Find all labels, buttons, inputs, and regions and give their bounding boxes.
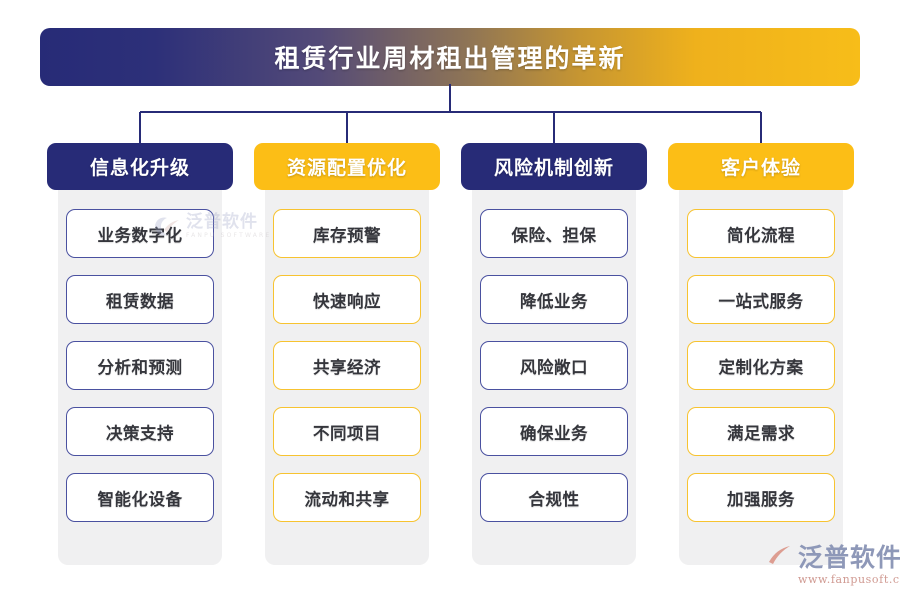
column-header-label-4: 客户体验 — [721, 153, 801, 180]
item-label: 一站式服务 — [719, 288, 804, 312]
item-label: 共享经济 — [313, 354, 381, 378]
list-item[interactable]: 保险、担保 — [480, 209, 628, 258]
list-item[interactable]: 风险敞口 — [480, 341, 628, 390]
column-header-2[interactable]: 资源配置优化 — [254, 143, 440, 190]
item-label: 加强服务 — [727, 486, 795, 510]
brand-logo: 泛普软件 www.fanpusoft.com — [758, 543, 900, 585]
list-item[interactable]: 定制化方案 — [687, 341, 835, 390]
column-header-label-1: 信息化升级 — [90, 153, 190, 180]
item-label: 定制化方案 — [719, 354, 804, 378]
column-item-list-2: 库存预警 快速响应 共享经济 不同项目 流动和共享 — [273, 209, 421, 522]
column-header-4[interactable]: 客户体验 — [668, 143, 854, 190]
item-label: 保险、担保 — [512, 222, 597, 246]
diagram-title-banner: 租赁行业周材租出管理的革新 — [40, 28, 860, 86]
list-item[interactable]: 租赁数据 — [66, 275, 214, 324]
item-label: 合规性 — [529, 486, 580, 510]
item-label: 确保业务 — [520, 420, 588, 444]
list-item[interactable]: 不同项目 — [273, 407, 421, 456]
item-label: 风险敞口 — [520, 354, 588, 378]
list-item[interactable]: 满足需求 — [687, 407, 835, 456]
list-item[interactable]: 合规性 — [480, 473, 628, 522]
item-label: 降低业务 — [520, 288, 588, 312]
list-item[interactable]: 简化流程 — [687, 209, 835, 258]
list-item[interactable]: 流动和共享 — [273, 473, 421, 522]
column-header-label-3: 风险机制创新 — [494, 153, 614, 180]
column-header-3[interactable]: 风险机制创新 — [461, 143, 647, 190]
diagram-canvas: 租赁行业周材租出管理的革新 信息化升级 业务数字化 租赁数据 分析和预测 决策支… — [0, 0, 900, 600]
list-item[interactable]: 分析和预测 — [66, 341, 214, 390]
category-column-2: 资源配置优化 库存预警 快速响应 共享经济 不同项目 流动和共享 — [254, 143, 440, 190]
column-item-list-1: 业务数字化 租赁数据 分析和预测 决策支持 智能化设备 — [66, 209, 214, 522]
connector-tree — [0, 84, 900, 146]
list-item[interactable]: 共享经济 — [273, 341, 421, 390]
page-title: 租赁行业周材租出管理的革新 — [274, 39, 625, 75]
item-label: 业务数字化 — [98, 222, 183, 246]
item-label: 简化流程 — [727, 222, 795, 246]
item-label: 快速响应 — [313, 288, 381, 312]
item-label: 智能化设备 — [98, 486, 183, 510]
item-label: 分析和预测 — [98, 354, 183, 378]
item-label: 决策支持 — [106, 420, 174, 444]
item-label: 满足需求 — [727, 420, 795, 444]
brand-url: www.fanpusoft.com — [798, 574, 900, 585]
list-item[interactable]: 快速响应 — [273, 275, 421, 324]
category-column-3: 风险机制创新 保险、担保 降低业务 风险敞口 确保业务 合规性 — [461, 143, 647, 190]
column-item-list-4: 简化流程 一站式服务 定制化方案 满足需求 加强服务 — [687, 209, 835, 522]
list-item[interactable]: 库存预警 — [273, 209, 421, 258]
item-label: 不同项目 — [313, 420, 381, 444]
item-label: 流动和共享 — [305, 486, 390, 510]
list-item[interactable]: 决策支持 — [66, 407, 214, 456]
list-item[interactable]: 加强服务 — [687, 473, 835, 522]
list-item[interactable]: 降低业务 — [480, 275, 628, 324]
category-column-1: 信息化升级 业务数字化 租赁数据 分析和预测 决策支持 智能化设备 — [47, 143, 233, 190]
list-item[interactable]: 业务数字化 — [66, 209, 214, 258]
brand-name: 泛普软件 — [798, 545, 900, 570]
item-label: 租赁数据 — [106, 288, 174, 312]
list-item[interactable]: 智能化设备 — [66, 473, 214, 522]
column-header-label-2: 资源配置优化 — [287, 153, 407, 180]
fanpu-swoosh-icon — [758, 543, 792, 573]
list-item[interactable]: 一站式服务 — [687, 275, 835, 324]
column-item-list-3: 保险、担保 降低业务 风险敞口 确保业务 合规性 — [480, 209, 628, 522]
list-item[interactable]: 确保业务 — [480, 407, 628, 456]
item-label: 库存预警 — [313, 222, 381, 246]
category-column-4: 客户体验 简化流程 一站式服务 定制化方案 满足需求 加强服务 — [668, 143, 854, 190]
column-header-1[interactable]: 信息化升级 — [47, 143, 233, 190]
